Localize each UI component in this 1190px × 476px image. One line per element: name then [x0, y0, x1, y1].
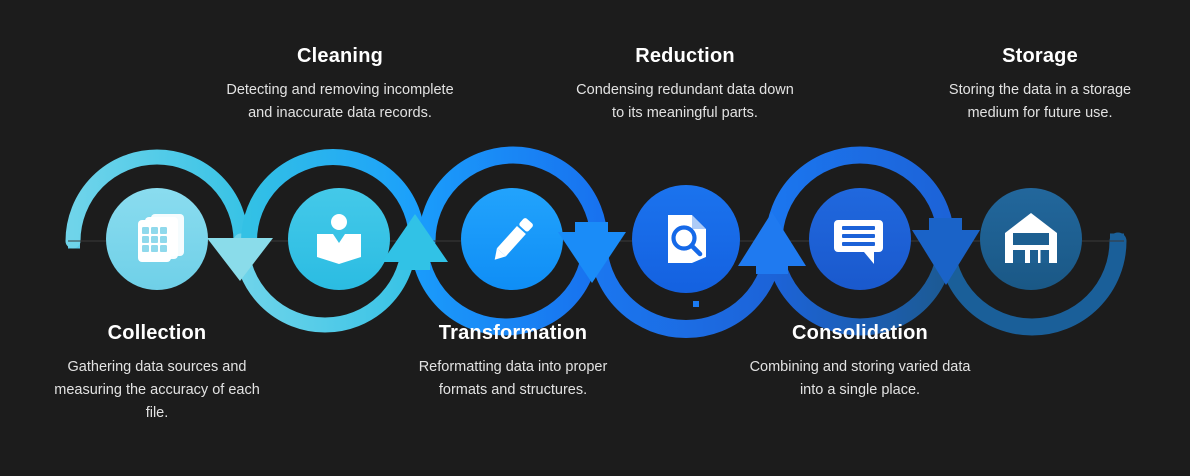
arrow-down-collection-cleaning — [207, 238, 273, 281]
step-desc-reduction: Condensing redundant data down to its me… — [570, 79, 800, 125]
step-text-storage: Storage Storing the data in a storage me… — [925, 45, 1155, 125]
step-desc-consolidation: Combining and storing varied data into a… — [745, 356, 975, 402]
step-title-transformation: Transformation — [398, 322, 628, 344]
step-circle-cleaning[interactable] — [288, 188, 390, 290]
step-text-cleaning: Cleaning Detecting and removing incomple… — [225, 45, 455, 125]
step-text-collection: Collection Gathering data sources and me… — [42, 322, 272, 425]
step-text-transformation: Transformation Reformatting data into pr… — [398, 322, 628, 402]
step-title-collection: Collection — [42, 322, 272, 344]
step-title-reduction: Reduction — [570, 45, 800, 67]
step-text-consolidation: Consolidation Combining and storing vari… — [745, 322, 975, 402]
decorative-dot — [693, 301, 699, 307]
step-title-cleaning: Cleaning — [225, 45, 455, 67]
step-desc-storage: Storing the data in a storage medium for… — [925, 79, 1155, 125]
table-stack-icon — [138, 214, 184, 262]
arrow-down-consolidation-storage — [912, 218, 980, 285]
step-desc-collection: Gathering data sources and measuring the… — [42, 356, 272, 425]
step-text-reduction: Reduction Condensing redundant data down… — [570, 45, 800, 125]
arrow-up-cleaning-transformation — [382, 214, 448, 270]
step-desc-transformation: Reformatting data into proper formats an… — [398, 356, 628, 402]
step-desc-cleaning: Detecting and removing incomplete and in… — [225, 79, 455, 125]
arrow-up-reduction-consolidation — [738, 212, 806, 274]
arrow-down-transformation-reduction — [558, 222, 626, 283]
diagram-canvas: Collection Gathering data sources and me… — [0, 0, 1190, 476]
step-title-storage: Storage — [925, 45, 1155, 67]
step-title-consolidation: Consolidation — [745, 322, 975, 344]
